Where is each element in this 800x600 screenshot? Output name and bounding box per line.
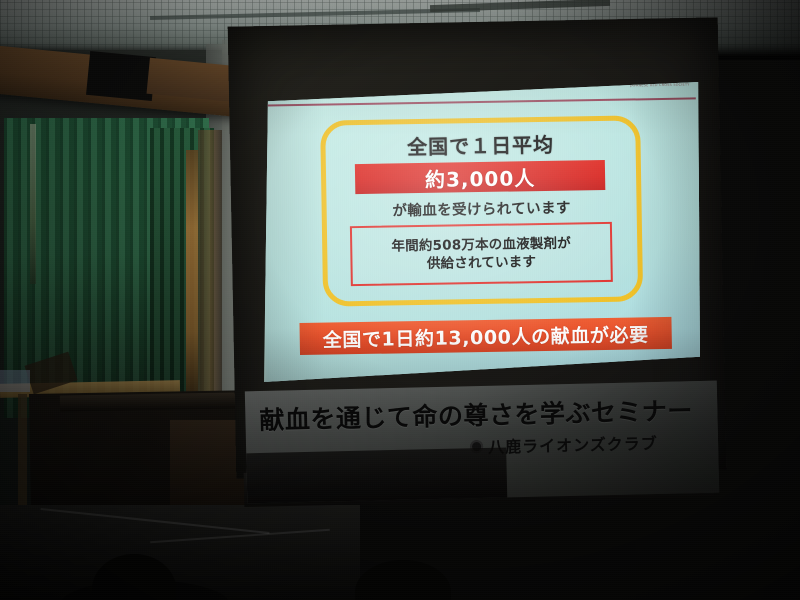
highlight-number-bar: 約3,000人 [355,160,605,194]
papers-on-table [0,370,30,392]
banner-shadow [246,447,507,503]
highlight-number-text: 約3,000人 [425,162,536,193]
boxed-note-line-1: 年間約508万本の血液製剤が [391,236,571,255]
table-leg [18,394,27,514]
slide-surface: 日本赤十字社 JAPANESE RED CROSS SOCIETY 全国で１日平… [264,82,700,382]
screenshot-root: 日本赤十字社 JAPANESE RED CROSS SOCIETY 全国で１日平… [0,0,800,600]
window-light-strip [186,150,198,410]
door-frame [198,130,222,430]
slide-header-rule [266,97,696,106]
curtain-light-gap [30,124,36,284]
slide-conclusion-text: 全国で1日約13,000人の献血が必要 [323,320,649,352]
slide-conclusion-banner: 全国で1日約13,000人の献血が必要 [299,317,671,355]
projected-slide: 日本赤十字社 JAPANESE RED CROSS SOCIETY 全国で１日平… [264,82,700,382]
stage-banner: 献血を通じて命の尊さを学ぶセミナー 八鹿ライオンズクラブ [245,381,719,504]
piano-lid [60,392,240,411]
boxed-note-line-2: 供給されています [427,254,536,272]
slide-heading: 全国で１日平均 [320,127,640,161]
boxed-note: 年間約508万本の血液製剤が 供給されています [350,222,613,286]
stage-banner-organizer-text: 八鹿ライオンズクラブ [488,430,658,458]
